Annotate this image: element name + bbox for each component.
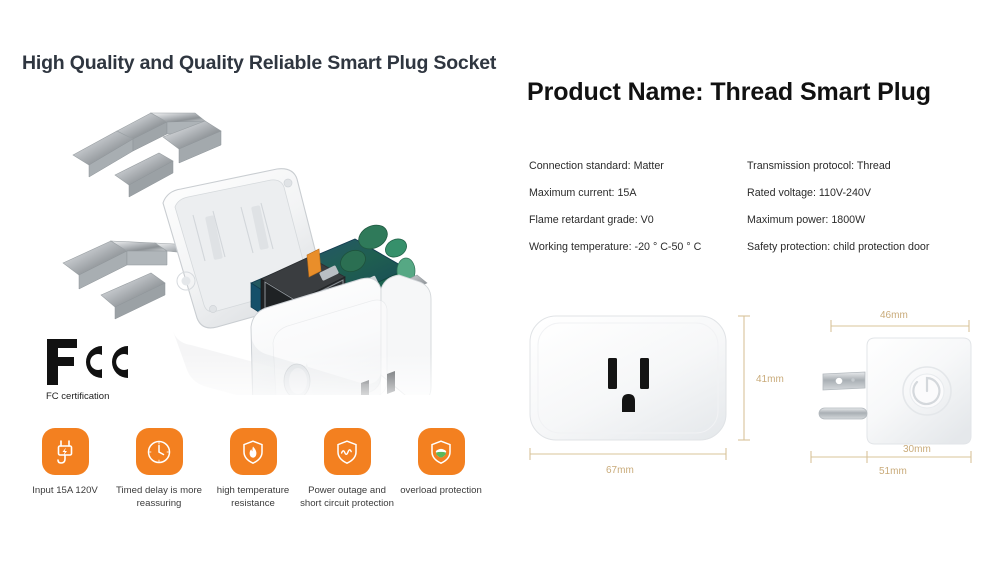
feature-item: overload protection <box>394 428 488 498</box>
front-view-dimension-diagram: 41mm 67mm <box>512 300 797 480</box>
dimension-height-41mm <box>738 316 750 440</box>
shield-overload-icon <box>427 438 455 466</box>
dimension-width-67mm <box>530 448 726 460</box>
feature-label: Power outage and short circuit protectio… <box>299 485 395 510</box>
shield-flame-icon <box>239 438 267 466</box>
outlet-ground-hole <box>622 394 635 412</box>
dimension-label-side-body: 30mm <box>903 444 931 455</box>
feature-label: high temperature resistance <box>205 485 301 510</box>
feature-icon-badge <box>42 428 89 475</box>
product-marketing-image: High Quality and Quality Reliable Smart … <box>0 0 1000 563</box>
prong-flat-lower <box>819 408 867 419</box>
shield-waveform-icon <box>333 438 361 466</box>
page-title: High Quality and Quality Reliable Smart … <box>22 52 496 75</box>
feature-item: Power outage and short circuit protectio… <box>300 428 394 510</box>
feature-item: Timed delay is more reassuring <box>112 428 206 510</box>
feature-label: Input 15A 120V <box>17 485 113 498</box>
product-name-title: Product Name: Thread Smart Plug <box>527 78 931 107</box>
feature-list: Input 15A 120V Timed delay is more reass… <box>18 428 508 510</box>
spec-item: Transmission protocol: Thread <box>747 160 989 172</box>
outlet-slot-right <box>640 358 649 389</box>
spec-item: Rated voltage: 110V-240V <box>747 187 989 199</box>
feature-icon-badge <box>230 428 277 475</box>
feature-icon-badge <box>418 428 465 475</box>
outlet-slot-left <box>608 358 617 389</box>
feature-label: overload protection <box>393 485 489 498</box>
feature-item: high temperature resistance <box>206 428 300 510</box>
prong-flat-upper <box>823 372 865 390</box>
plug-front-body <box>530 316 726 440</box>
fc-certification-block: FC certification <box>44 336 174 402</box>
plug-prongs <box>819 372 867 419</box>
plug-prong-blades <box>73 113 221 197</box>
plug-side-body <box>867 338 971 444</box>
feature-label: Timed delay is more reassuring <box>111 485 207 510</box>
fcc-logo-icon <box>44 336 136 388</box>
dimension-label-width: 67mm <box>606 465 634 476</box>
side-view-dimension-diagram: 46mm 30mm 51mm <box>805 296 995 481</box>
spec-item: Safety protection: child protection door <box>747 241 989 253</box>
spec-item: Flame retardant grade: V0 <box>529 214 747 226</box>
dimension-label-side-top: 46mm <box>880 310 908 321</box>
feature-icon-badge <box>324 428 371 475</box>
spec-item: Maximum current: 15A <box>529 187 747 199</box>
feature-icon-badge <box>136 428 183 475</box>
dimension-top-46mm <box>831 320 969 332</box>
specification-list: Connection standard: Matter Transmission… <box>529 160 989 253</box>
dimension-label-height: 41mm <box>756 374 784 385</box>
plug-icon <box>51 438 79 466</box>
spec-item: Connection standard: Matter <box>529 160 747 172</box>
spec-item: Maximum power: 1800W <box>747 214 989 226</box>
feature-item: Input 15A 120V <box>18 428 112 498</box>
clock-icon <box>145 438 173 466</box>
dimension-total-51mm <box>811 451 971 463</box>
dimension-label-side-total: 51mm <box>879 466 907 477</box>
fc-certification-caption: FC certification <box>44 391 174 402</box>
spec-item: Working temperature: -20 ° C-50 ° C <box>529 241 747 253</box>
